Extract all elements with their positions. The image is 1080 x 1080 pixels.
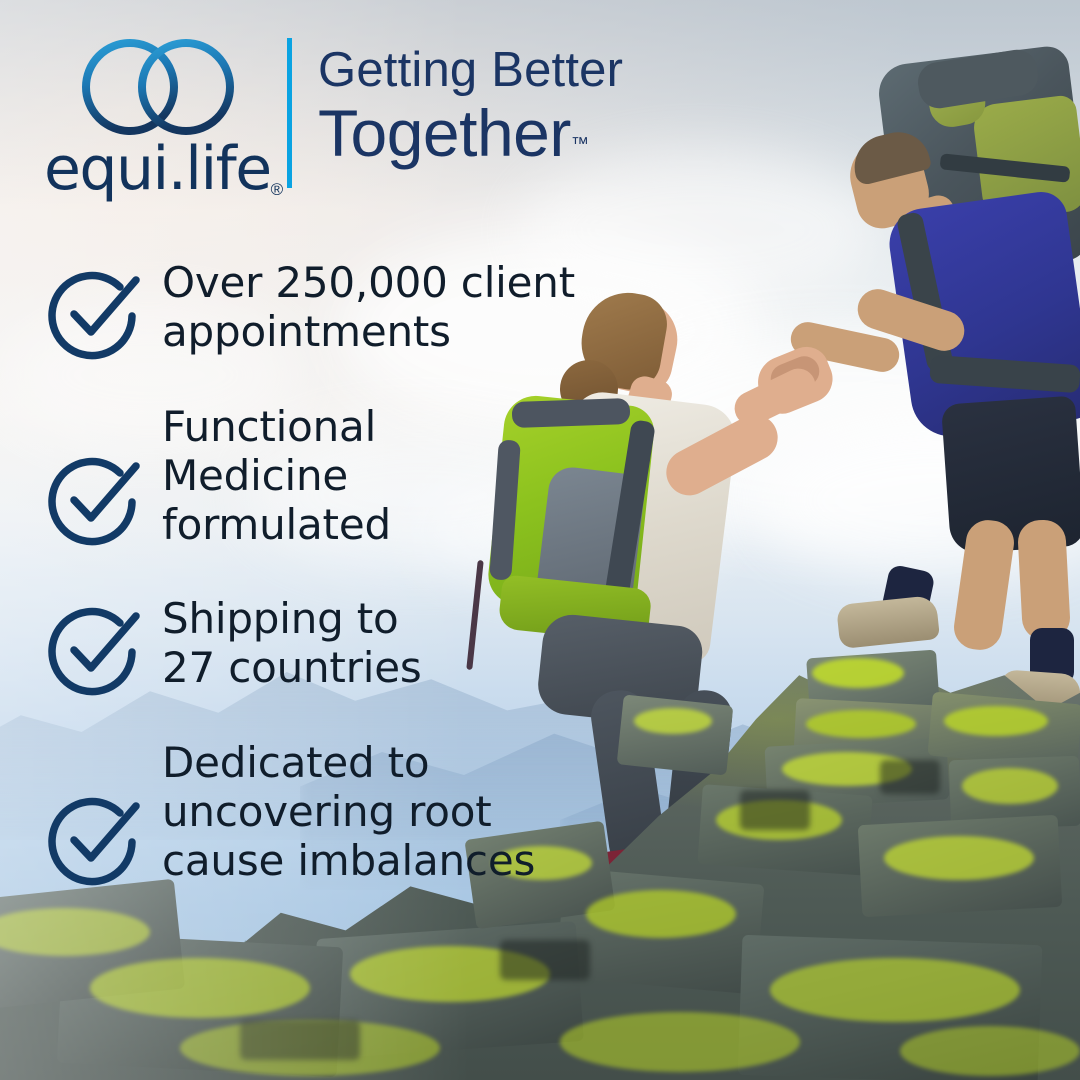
lichen-patch [812, 658, 904, 688]
brand-header: equi.life® Getting Better Together™ [0, 0, 700, 215]
boulder [617, 694, 734, 775]
tagline-line-2: Together [318, 98, 571, 168]
registered-trademark-icon: ® [271, 181, 284, 198]
list-item-label: Functional Medicine formulated [162, 402, 391, 549]
lichen-patch [806, 710, 916, 738]
rock-shadow [880, 760, 940, 794]
rock-shadow [740, 790, 810, 830]
promo-graphic: equi.life® Getting Better Together™ Over… [0, 0, 1080, 1080]
lichen-patch [884, 836, 1034, 880]
rock-shadow [500, 940, 590, 980]
rock-shadow [240, 1020, 360, 1060]
male-right-leg [1017, 519, 1071, 641]
equilife-wordmark: equi.life® [44, 136, 274, 198]
tagline: Getting Better Together™ [318, 42, 678, 168]
lichen-patch [944, 706, 1048, 736]
female-backpack-top-strap [512, 398, 631, 428]
list-item-label: Shipping to 27 countries [162, 594, 422, 692]
brand-divider [287, 38, 292, 188]
list-item: Shipping to 27 countries [44, 594, 422, 702]
lichen-patch [586, 890, 736, 938]
list-item-label: Dedicated to uncovering root cause imbal… [162, 738, 535, 885]
equilife-logo-icon [78, 36, 238, 138]
list-item: Over 250,000 client appointments [44, 258, 575, 366]
lichen-patch [634, 708, 712, 734]
list-item-label: Over 250,000 client appointments [162, 258, 575, 356]
wordmark-text: equi.life [44, 140, 271, 198]
check-circle-icon [44, 448, 148, 552]
check-circle-icon [44, 262, 148, 366]
list-item: Dedicated to uncovering root cause imbal… [44, 738, 535, 892]
lichen-patch [770, 958, 1020, 1022]
check-circle-icon [44, 598, 148, 702]
check-circle-icon [44, 788, 148, 892]
lichen-patch [962, 768, 1058, 804]
lichen-patch [560, 1012, 800, 1072]
trademark-icon: ™ [571, 134, 589, 154]
tagline-line-1: Getting Better [318, 42, 678, 98]
list-item: Functional Medicine formulated [44, 402, 391, 552]
lichen-patch [900, 1026, 1080, 1076]
lichen-patch [90, 958, 310, 1018]
